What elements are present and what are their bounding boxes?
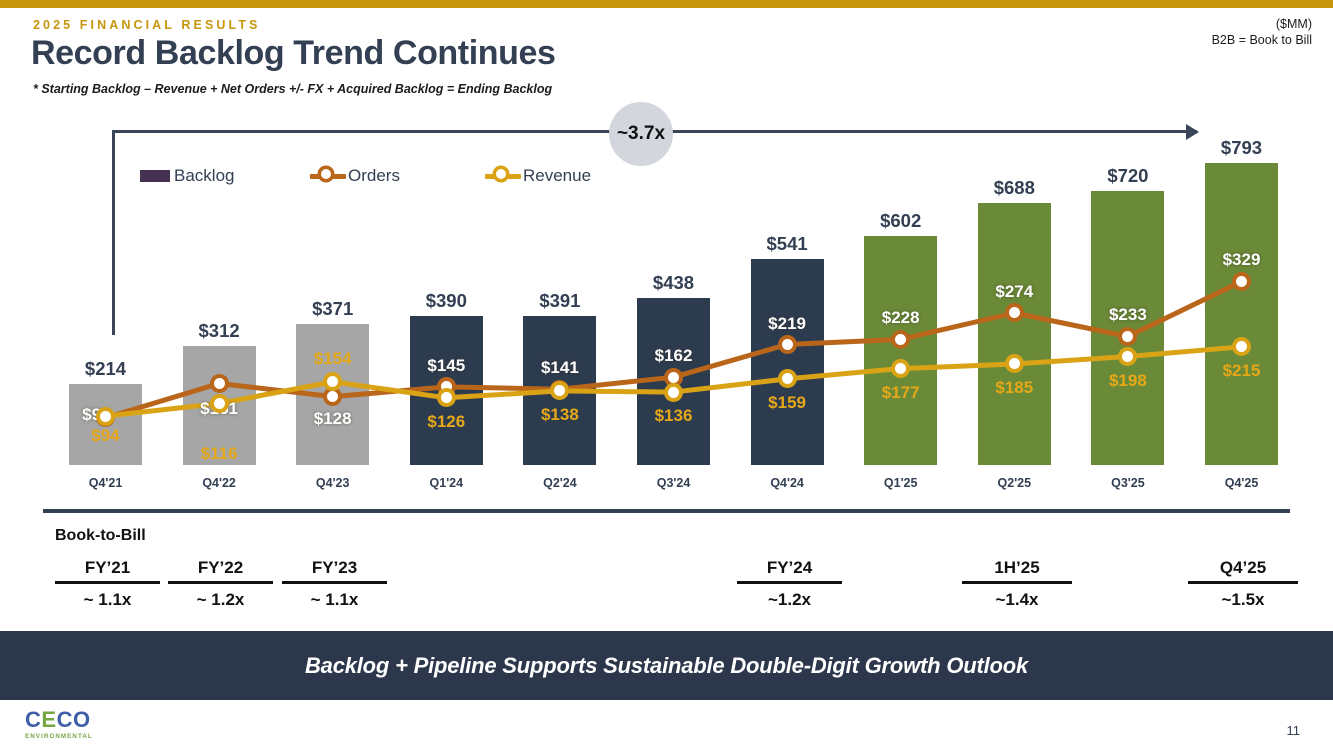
bar-backlog-Q224[interactable]	[523, 316, 596, 465]
book-to-bill-cell-4: 1H’25~1.4x	[962, 558, 1072, 610]
book-to-bill-divider-3	[737, 581, 842, 584]
book-to-bill-heading: Book-to-Bill	[55, 527, 146, 545]
marker-orders-Q424[interactable]	[782, 339, 793, 350]
marker-revenue-Q425[interactable]	[1236, 341, 1247, 352]
bar-backlog-Q124[interactable]	[410, 316, 483, 465]
value-label-orders-Q424: $219	[717, 314, 857, 334]
legend-label-revenue: Revenue	[523, 166, 591, 186]
marker-orders-Q425[interactable]	[1236, 276, 1247, 287]
book-to-bill-divider-5	[1188, 581, 1298, 584]
value-label-orders-Q124: $145	[376, 356, 516, 376]
bar-backlog-Q425[interactable]	[1205, 163, 1278, 465]
bar-total-label-Q424: $541	[727, 233, 847, 255]
marker-revenue-Q224[interactable]	[554, 385, 565, 396]
book-to-bill-period-2: FY’23	[282, 558, 387, 580]
book-to-bill-period-1: FY’22	[168, 558, 273, 580]
legend-item-orders[interactable]: Orders	[310, 165, 400, 187]
book-to-bill-period-4: 1H’25	[962, 558, 1072, 580]
book-to-bill-period-5: Q4’25	[1188, 558, 1298, 580]
units-note: ($MM) B2B = Book to Bill	[1212, 16, 1312, 48]
units-line-2: B2B = Book to Bill	[1212, 32, 1312, 48]
takeaway-banner: Backlog + Pipeline Supports Sustainable …	[0, 631, 1333, 700]
marker-revenue-Q423[interactable]	[327, 376, 338, 387]
book-to-bill-period-0: FY’21	[55, 558, 160, 580]
marker-revenue-Q424[interactable]	[782, 373, 793, 384]
takeaway-text: Backlog + Pipeline Supports Sustainable …	[305, 653, 1028, 679]
bar-backlog-Q421[interactable]	[69, 384, 142, 465]
legend-item-backlog[interactable]: Backlog	[140, 165, 234, 187]
marker-orders-Q422[interactable]	[214, 378, 225, 389]
value-label-orders-Q225: $274	[944, 282, 1084, 302]
logo-subtitle: ENVIRONMENTAL	[25, 733, 93, 740]
x-axis-label-Q325: Q3'25	[1068, 476, 1188, 490]
bar-backlog-Q424[interactable]	[751, 259, 824, 465]
marker-orders-Q421[interactable]	[100, 412, 111, 423]
value-label-orders-Q125: $228	[831, 308, 971, 328]
value-label-orders-Q423: $128	[263, 409, 403, 429]
x-axis-label-Q124: Q1'24	[386, 476, 506, 490]
bar-total-label-Q324: $438	[614, 272, 734, 294]
marker-orders-Q324[interactable]	[668, 372, 679, 383]
book-to-bill-value-1: ~ 1.2x	[168, 587, 273, 610]
book-to-bill-divider-4	[962, 581, 1072, 584]
book-to-bill-period-3: FY’24	[737, 558, 842, 580]
book-to-bill-divider-1	[168, 581, 273, 584]
marker-revenue-Q421[interactable]	[100, 411, 111, 422]
growth-multiple-badge: ~3.7x	[609, 102, 673, 166]
book-to-bill-cell-1: FY’22~ 1.2x	[168, 558, 273, 610]
legend-label-orders: Orders	[348, 166, 400, 186]
bar-backlog-Q225[interactable]	[978, 203, 1051, 465]
book-to-bill-cell-2: FY’23~ 1.1x	[282, 558, 387, 610]
value-label-revenue-Q224: $138	[490, 405, 630, 425]
book-to-bill-value-5: ~1.5x	[1188, 587, 1298, 610]
book-to-bill-cell-0: FY’21~ 1.1x	[55, 558, 160, 610]
value-label-orders-Q422: $151	[149, 399, 289, 419]
page-number: 11	[1287, 723, 1301, 738]
marker-revenue-Q422[interactable]	[214, 398, 225, 409]
marker-orders-Q224[interactable]	[554, 384, 565, 395]
bar-total-label-Q422: $312	[159, 320, 279, 342]
x-axis-label-Q425: Q4'25	[1182, 476, 1302, 490]
x-axis-label-Q424: Q4'24	[727, 476, 847, 490]
value-label-revenue-Q125: $177	[831, 383, 971, 403]
bar-total-label-Q125: $602	[841, 210, 961, 232]
marker-revenue-Q125[interactable]	[895, 363, 906, 374]
book-to-bill-cell-3: FY’24~1.2x	[737, 558, 842, 610]
marker-orders-Q124[interactable]	[441, 381, 452, 392]
eyebrow-label: 2025 FINANCIAL RESULTS	[33, 18, 261, 32]
title-footnote: * Starting Backlog – Revenue + Net Order…	[33, 82, 552, 96]
bar-total-label-Q224: $391	[500, 290, 620, 312]
value-label-revenue-Q423: $154	[263, 349, 403, 369]
page-title: Record Backlog Trend Continues	[31, 34, 556, 73]
bar-total-label-Q421: $214	[46, 358, 166, 380]
bar-backlog-Q422[interactable]	[183, 346, 256, 465]
x-axis-label-Q422: Q4'22	[159, 476, 279, 490]
value-label-revenue-Q424: $159	[717, 393, 857, 413]
bar-total-label-Q423: $371	[273, 298, 393, 320]
slide: 2025 FINANCIAL RESULTS Record Backlog Tr…	[0, 0, 1333, 749]
value-label-orders-Q324: $162	[604, 346, 744, 366]
book-to-bill-value-3: ~1.2x	[737, 587, 842, 610]
value-label-revenue-Q422: $116	[149, 444, 289, 464]
x-axis-label-Q421: Q4'21	[46, 476, 166, 490]
x-axis-label-Q324: Q3'24	[614, 476, 734, 490]
ceco-logo: CECO ENVIRONMENTAL	[25, 709, 93, 740]
bar-total-label-Q425: $793	[1182, 137, 1302, 159]
value-label-revenue-Q124: $126	[376, 412, 516, 432]
value-label-revenue-Q225: $185	[944, 378, 1084, 398]
book-to-bill-divider-0	[55, 581, 160, 584]
marker-revenue-Q124[interactable]	[441, 392, 452, 403]
value-label-revenue-Q325: $198	[1058, 371, 1198, 391]
legend-label-backlog: Backlog	[174, 166, 234, 186]
book-to-bill-divider-2	[282, 581, 387, 584]
x-axis-label-Q225: Q2'25	[954, 476, 1074, 490]
value-label-revenue-Q425: $215	[1172, 361, 1312, 381]
book-to-bill-value-0: ~ 1.1x	[55, 587, 160, 610]
bar-total-label-Q124: $390	[386, 290, 506, 312]
value-label-orders-Q224: $141	[490, 358, 630, 378]
line-revenue	[106, 347, 1242, 416]
legend-swatch-orders-icon	[310, 167, 346, 185]
value-label-orders-Q421: $91	[0, 405, 111, 425]
value-label-orders-Q325: $233	[1058, 305, 1198, 325]
marker-orders-Q125[interactable]	[895, 334, 906, 345]
bar-backlog-Q324[interactable]	[637, 298, 710, 465]
bar-backlog-Q125[interactable]	[864, 236, 937, 465]
units-line-1: ($MM)	[1212, 16, 1312, 32]
legend-swatch-backlog-icon	[140, 170, 170, 182]
marker-revenue-Q324[interactable]	[668, 387, 679, 398]
x-axis-label-Q423: Q4'23	[273, 476, 393, 490]
legend-item-revenue[interactable]: Revenue	[485, 165, 591, 187]
value-label-revenue-Q421: $94	[5, 426, 120, 446]
bar-backlog-Q423[interactable]	[296, 324, 369, 465]
bar-backlog-Q325[interactable]	[1091, 191, 1164, 465]
marker-orders-Q423[interactable]	[327, 391, 338, 402]
value-label-orders-Q425: $329	[1172, 250, 1312, 270]
book-to-bill-value-4: ~1.4x	[962, 587, 1072, 610]
book-to-bill-cell-5: Q4’25~1.5x	[1188, 558, 1298, 610]
growth-arrow-icon	[1186, 124, 1199, 140]
logo-letters-co: CO	[57, 707, 91, 732]
top-accent-rule	[0, 0, 1333, 8]
bar-total-label-Q325: $720	[1068, 165, 1188, 187]
legend-swatch-revenue-icon	[485, 167, 521, 185]
logo-letter-e: E	[41, 707, 56, 732]
marker-revenue-Q225[interactable]	[1009, 358, 1020, 369]
marker-orders-Q225[interactable]	[1009, 307, 1020, 318]
value-label-revenue-Q324: $136	[604, 406, 744, 426]
axis-separator-rule	[43, 509, 1290, 513]
logo-wordmark: CECO	[25, 709, 93, 731]
marker-orders-Q325[interactable]	[1122, 331, 1133, 342]
x-axis-label-Q125: Q1'25	[841, 476, 961, 490]
bar-total-label-Q225: $688	[954, 177, 1074, 199]
book-to-bill-value-2: ~ 1.1x	[282, 587, 387, 610]
marker-revenue-Q325[interactable]	[1122, 351, 1133, 362]
line-orders	[106, 281, 1242, 417]
logo-letter-c1: C	[25, 707, 41, 732]
x-axis-label-Q224: Q2'24	[500, 476, 620, 490]
growth-bracket-vertical	[112, 130, 115, 335]
